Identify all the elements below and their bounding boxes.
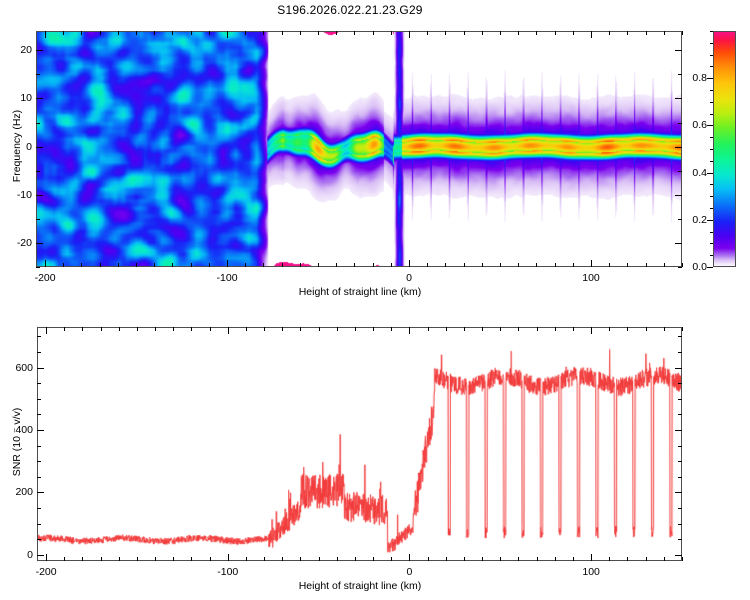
axis-tick <box>573 263 574 267</box>
colorbar-border <box>713 31 736 267</box>
axis-tick <box>591 31 592 38</box>
axis-tick <box>391 327 392 331</box>
axis-tick <box>678 477 682 478</box>
axis-tick <box>710 161 713 162</box>
axis-tick <box>409 554 410 561</box>
axis-tick <box>355 327 356 331</box>
axis-tick <box>537 557 538 561</box>
axis-tick <box>646 327 647 331</box>
axis-tick <box>675 492 682 493</box>
axis-tick <box>36 195 43 196</box>
axis-tick <box>172 263 173 267</box>
axis-tick <box>591 260 592 267</box>
axis-tick <box>710 220 713 221</box>
axis-tick <box>37 446 41 447</box>
axis-tick <box>573 557 574 561</box>
axis-tick <box>391 31 392 35</box>
axis-tick <box>282 31 283 35</box>
axis-tick <box>591 327 592 334</box>
axis-tick <box>191 263 192 267</box>
axis-tick <box>37 492 44 493</box>
axis-tick <box>210 327 211 331</box>
axis-tick <box>682 557 683 561</box>
axis-tick <box>246 327 247 331</box>
figure-root: S196.2026.022.21.23.G29 Frequency (Hz) H… <box>0 0 750 600</box>
axis-tick <box>391 263 392 267</box>
axis-tick <box>500 31 501 35</box>
axis-tick <box>37 524 41 525</box>
spectrogram-xtick-label: -200 <box>35 272 56 284</box>
axis-tick <box>101 557 102 561</box>
axis-tick <box>664 327 665 331</box>
axis-tick <box>678 414 682 415</box>
axis-tick <box>173 557 174 561</box>
axis-tick <box>227 31 228 38</box>
axis-tick <box>37 508 41 509</box>
axis-tick <box>710 31 713 32</box>
snr-xtick-label: 0 <box>407 566 413 578</box>
colorbar <box>713 31 736 267</box>
spectrogram-ytick-label: 0 <box>10 141 32 153</box>
axis-tick <box>710 43 713 44</box>
axis-tick <box>464 263 465 267</box>
axis-tick <box>678 446 682 447</box>
snr-xtick-label: 100 <box>582 566 600 578</box>
axis-tick <box>678 383 682 384</box>
axis-tick <box>710 267 713 268</box>
axis-tick <box>336 31 337 35</box>
snr-xtick-label: -200 <box>36 566 57 578</box>
axis-tick <box>710 196 713 197</box>
axis-tick <box>555 327 556 331</box>
axis-tick <box>609 31 610 35</box>
axis-tick <box>300 31 301 35</box>
snr-xtick-label: -100 <box>217 566 238 578</box>
axis-tick <box>710 125 713 126</box>
axis-tick <box>318 263 319 267</box>
axis-tick <box>191 31 192 35</box>
axis-tick <box>36 50 43 51</box>
axis-tick <box>355 557 356 561</box>
axis-tick <box>100 31 101 35</box>
axis-tick <box>282 557 283 561</box>
axis-tick <box>37 477 41 478</box>
axis-tick <box>518 557 519 561</box>
snr-ytick-label: 400 <box>9 424 33 436</box>
axis-tick <box>173 327 174 331</box>
axis-tick <box>37 352 41 353</box>
axis-tick <box>664 31 665 35</box>
axis-tick <box>263 31 264 35</box>
axis-tick <box>154 263 155 267</box>
axis-tick <box>264 327 265 331</box>
axis-tick <box>373 327 374 331</box>
axis-tick <box>675 147 682 148</box>
axis-tick <box>36 219 40 220</box>
axis-tick <box>627 263 628 267</box>
axis-tick <box>675 243 682 244</box>
spectrogram-x-axis-label: Height of straight line (km) <box>210 286 510 298</box>
axis-tick <box>228 554 229 561</box>
axis-tick <box>609 327 610 331</box>
axis-tick <box>710 184 713 185</box>
axis-tick <box>500 263 501 267</box>
axis-tick <box>264 557 265 561</box>
axis-tick <box>678 539 682 540</box>
axis-tick <box>682 31 683 35</box>
axis-tick <box>482 327 483 331</box>
axis-tick <box>46 554 47 561</box>
axis-tick <box>678 336 682 337</box>
axis-tick <box>710 173 713 174</box>
axis-tick <box>682 327 683 331</box>
axis-tick <box>100 263 101 267</box>
snr-ytick-label: 600 <box>9 362 33 374</box>
axis-tick <box>482 263 483 267</box>
axis-tick <box>246 557 247 561</box>
axis-tick <box>646 263 647 267</box>
axis-tick <box>318 31 319 35</box>
axis-tick <box>155 557 156 561</box>
axis-tick <box>518 31 519 35</box>
axis-tick <box>300 557 301 561</box>
axis-tick <box>36 98 43 99</box>
axis-tick <box>209 31 210 35</box>
axis-tick <box>119 557 120 561</box>
axis-tick <box>37 539 41 540</box>
axis-tick <box>710 55 713 56</box>
colorbar-tick-label: 0.8 <box>681 72 707 84</box>
axis-tick <box>427 31 428 35</box>
axis-tick <box>82 327 83 331</box>
axis-tick <box>500 327 501 331</box>
axis-tick <box>482 557 483 561</box>
spectrogram-ytick-label: -20 <box>10 237 32 249</box>
axis-tick <box>172 31 173 35</box>
axis-tick <box>46 327 47 334</box>
axis-tick <box>609 557 610 561</box>
axis-tick <box>573 327 574 331</box>
axis-tick <box>427 263 428 267</box>
axis-tick <box>263 263 264 267</box>
spectrogram-ytick-label: 10 <box>10 92 32 104</box>
axis-tick <box>37 555 44 556</box>
axis-tick <box>155 327 156 331</box>
axis-tick <box>36 74 40 75</box>
snr-y-axis-label: SNR (10 ⁻ v/v) <box>11 387 23 497</box>
axis-tick <box>627 31 628 35</box>
axis-tick <box>464 557 465 561</box>
spectrogram-ytick-label: -10 <box>10 189 32 201</box>
axis-tick <box>82 557 83 561</box>
axis-tick <box>482 31 483 35</box>
axis-tick <box>36 123 40 124</box>
axis-tick <box>210 557 211 561</box>
axis-tick <box>627 557 628 561</box>
colorbar-tick-label: 0.4 <box>681 167 707 179</box>
spectrogram-ytick-label: 20 <box>10 44 32 56</box>
axis-tick <box>710 137 713 138</box>
axis-tick <box>627 327 628 331</box>
axis-tick <box>37 430 44 431</box>
axis-tick <box>119 327 120 331</box>
axis-tick <box>536 263 537 267</box>
axis-tick <box>675 98 682 99</box>
axis-tick <box>137 557 138 561</box>
axis-tick <box>300 263 301 267</box>
spectrogram-xtick-label: 100 <box>582 272 600 284</box>
axis-tick <box>446 557 447 561</box>
axis-tick <box>428 557 429 561</box>
axis-tick <box>373 557 374 561</box>
axis-tick <box>555 31 556 35</box>
axis-tick <box>710 78 713 79</box>
axis-tick <box>664 263 665 267</box>
axis-tick <box>445 263 446 267</box>
axis-tick <box>282 327 283 331</box>
axis-tick <box>101 327 102 331</box>
axis-tick <box>428 327 429 331</box>
axis-tick <box>675 195 682 196</box>
axis-tick <box>373 263 374 267</box>
axis-tick <box>710 149 713 150</box>
axis-tick <box>409 327 410 334</box>
axis-tick <box>710 208 713 209</box>
axis-tick <box>136 263 137 267</box>
axis-tick <box>609 263 610 267</box>
axis-tick <box>136 31 137 35</box>
snr-canvas <box>38 328 681 560</box>
spectrogram-panel <box>36 31 682 267</box>
axis-tick <box>675 555 682 556</box>
axis-tick <box>555 263 556 267</box>
axis-tick <box>573 31 574 35</box>
axis-tick <box>36 243 43 244</box>
axis-tick <box>710 232 713 233</box>
axis-tick <box>536 31 537 35</box>
spectrogram-xtick-label: 0 <box>406 272 412 284</box>
axis-tick <box>45 260 46 267</box>
axis-tick <box>154 31 155 35</box>
axis-tick <box>537 327 538 331</box>
axis-tick <box>518 327 519 331</box>
axis-tick <box>518 263 519 267</box>
axis-tick <box>678 399 682 400</box>
axis-tick <box>37 461 41 462</box>
axis-tick <box>675 430 682 431</box>
axis-tick <box>391 557 392 561</box>
axis-tick <box>137 327 138 331</box>
axis-tick <box>282 263 283 267</box>
axis-tick <box>37 383 41 384</box>
axis-tick <box>36 171 40 172</box>
axis-tick <box>191 557 192 561</box>
axis-tick <box>646 557 647 561</box>
axis-tick <box>64 327 65 331</box>
axis-tick <box>81 263 82 267</box>
colorbar-tick-label: 0.2 <box>681 214 707 226</box>
axis-tick <box>710 102 713 103</box>
axis-tick <box>678 508 682 509</box>
axis-tick <box>118 263 119 267</box>
axis-tick <box>245 263 246 267</box>
spectrogram-canvas <box>37 32 681 266</box>
axis-tick <box>336 263 337 267</box>
axis-tick <box>354 31 355 35</box>
page-title: S196.2026.022.21.23.G29 <box>0 3 700 17</box>
axis-tick <box>245 31 246 35</box>
axis-tick <box>319 557 320 561</box>
axis-tick <box>500 557 501 561</box>
snr-ytick-label: 200 <box>9 486 33 498</box>
axis-tick <box>710 66 713 67</box>
axis-tick <box>354 263 355 267</box>
axis-tick <box>37 336 41 337</box>
axis-tick <box>555 557 556 561</box>
snr-ytick-label: 0 <box>9 549 33 561</box>
axis-tick <box>409 31 410 38</box>
snr-panel <box>37 327 682 561</box>
axis-tick <box>678 352 682 353</box>
axis-tick <box>45 31 46 38</box>
axis-tick <box>300 327 301 331</box>
axis-tick <box>646 31 647 35</box>
axis-tick <box>710 255 713 256</box>
axis-tick <box>63 31 64 35</box>
axis-tick <box>37 368 44 369</box>
axis-tick <box>37 414 41 415</box>
axis-tick <box>446 327 447 331</box>
axis-tick <box>464 327 465 331</box>
axis-tick <box>373 31 374 35</box>
spectrogram-xtick-label: -100 <box>217 272 238 284</box>
axis-tick <box>591 554 592 561</box>
axis-tick <box>664 557 665 561</box>
colorbar-tick-label: 0.0 <box>681 261 707 273</box>
axis-tick <box>37 399 41 400</box>
axis-tick <box>63 263 64 267</box>
axis-tick <box>64 557 65 561</box>
axis-tick <box>409 260 410 267</box>
axis-tick <box>710 243 713 244</box>
axis-tick <box>710 90 713 91</box>
colorbar-tick-label: 0.6 <box>681 119 707 131</box>
snr-x-axis-label: Height of straight line (km) <box>210 580 510 592</box>
axis-tick <box>209 263 210 267</box>
axis-tick <box>228 327 229 334</box>
axis-tick <box>191 327 192 331</box>
axis-tick <box>36 147 43 148</box>
axis-tick <box>118 31 119 35</box>
axis-tick <box>678 524 682 525</box>
axis-tick <box>675 368 682 369</box>
axis-tick <box>678 461 682 462</box>
axis-tick <box>319 327 320 331</box>
axis-tick <box>36 267 40 268</box>
axis-tick <box>710 114 713 115</box>
axis-tick <box>464 31 465 35</box>
axis-tick <box>227 260 228 267</box>
axis-tick <box>337 327 338 331</box>
axis-tick <box>337 557 338 561</box>
axis-tick <box>81 31 82 35</box>
axis-tick <box>675 50 682 51</box>
axis-tick <box>445 31 446 35</box>
